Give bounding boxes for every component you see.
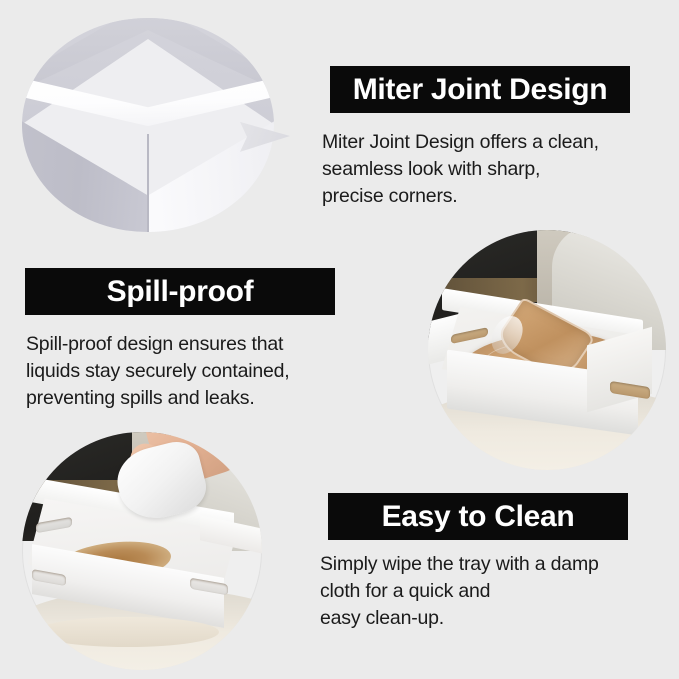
tray-assembly <box>433 309 666 443</box>
tray-corner-seam <box>147 134 149 232</box>
spill-proof-photo <box>428 230 666 470</box>
tray-assembly <box>22 503 262 641</box>
heading-bar-easy-to-clean: Easy to Clean <box>328 493 628 540</box>
spill-proof-scene <box>428 230 666 470</box>
heading-label-miter-joint-design: Miter Joint Design <box>353 75 608 105</box>
easy-to-clean-photo <box>22 432 262 670</box>
easy-to-clean-scene <box>22 432 262 670</box>
miter-joint-figure <box>22 18 288 232</box>
body-text-spill-proof: Spill-proof design ensures that liquids … <box>26 331 366 412</box>
tray-left-side-face <box>22 104 148 232</box>
scene-cushion <box>36 617 218 647</box>
miter-joint-corner-image <box>22 18 274 232</box>
heading-bar-miter-joint-design: Miter Joint Design <box>330 66 630 113</box>
body-text-easy-to-clean: Simply wipe the tray with a damp cloth f… <box>320 551 676 632</box>
heading-label-spill-proof: Spill-proof <box>107 277 254 307</box>
heading-bar-spill-proof: Spill-proof <box>25 268 335 315</box>
body-text-miter-joint-design: Miter Joint Design offers a clean, seaml… <box>322 129 674 210</box>
infographic-canvas: Miter Joint Design Miter Joint Design of… <box>0 0 679 679</box>
heading-label-easy-to-clean: Easy to Clean <box>382 502 575 532</box>
tray-right-side-face <box>148 104 274 232</box>
